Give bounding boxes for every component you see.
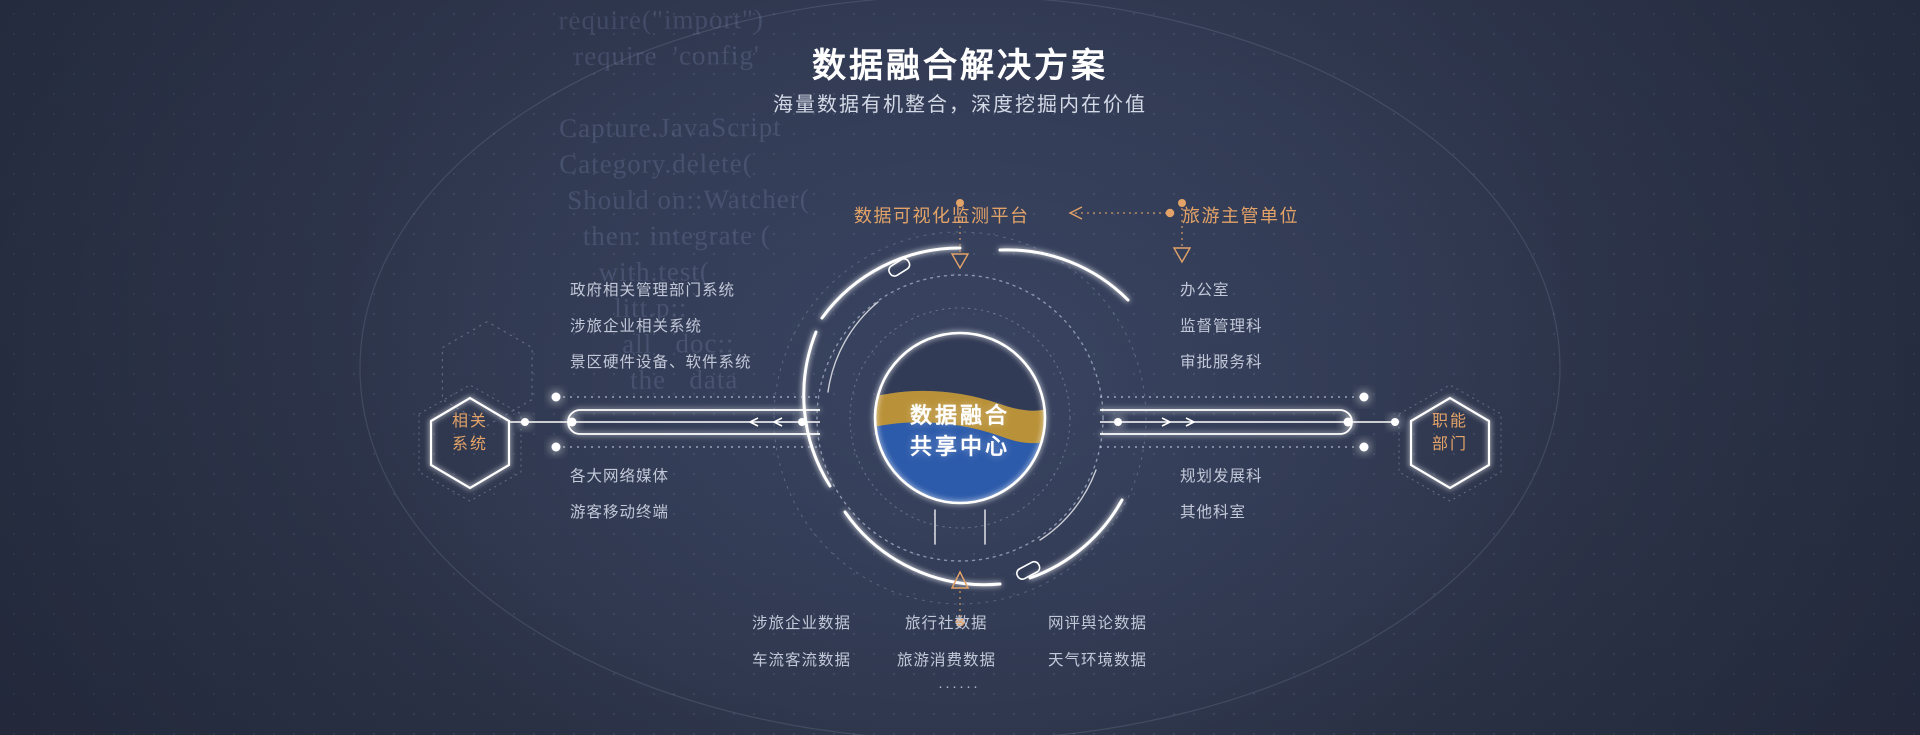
label-tourism-authority[interactable]: 旅游主管单位: [1182, 202, 1299, 228]
label-left-lower-1: 游客移动终端: [570, 500, 669, 522]
label-right-lower-0: 规划发展科: [1180, 464, 1263, 486]
hexagon-left-label: 相关 系统: [420, 410, 520, 456]
label-left-upper-2: 景区硬件设备、软件系统: [570, 350, 752, 372]
label-bottom-r0-c0: 涉旅企业数据: [752, 611, 851, 633]
connector-left-group: [509, 393, 820, 452]
label-visualization-platform[interactable]: 数据可视化监测平台: [854, 202, 1030, 228]
label-left-upper-0: 政府相关管理部门系统: [570, 278, 735, 300]
label-bottom-r0-c2: 网评舆论数据: [1048, 611, 1147, 633]
hexagon-right-label: 职能 部门: [1400, 410, 1500, 456]
label-bottom-r1-c0: 车流客流数据: [752, 648, 851, 670]
connector-top-platform-to-authority: [1070, 207, 1174, 219]
label-right-upper-0: 办公室: [1180, 278, 1230, 300]
label-left-upper-1: 涉旅企业相关系统: [570, 314, 702, 336]
hexagon-right-line2: 部门: [1400, 433, 1500, 456]
center-label-line2: 共享中心: [860, 431, 1060, 462]
label-bottom-r1-c1: 旅游消费数据: [897, 648, 996, 670]
label-bottom-r1-c2: 天气环境数据: [1048, 648, 1147, 670]
label-right-upper-1: 监督管理科: [1180, 314, 1263, 336]
hexagon-left-line1: 相关: [420, 410, 520, 433]
label-bottom-ellipsis: ······: [938, 678, 980, 695]
label-right-upper-2: 审批服务科: [1180, 350, 1263, 372]
center-label: 数据融合 共享中心: [860, 400, 1060, 462]
center-label-line1: 数据融合: [860, 400, 1060, 431]
hexagon-right-line1: 职能: [1400, 410, 1500, 433]
hexagon-left-line2: 系统: [420, 433, 520, 456]
label-bottom-r0-c1: 旅行社数据: [905, 611, 988, 633]
label-left-lower-0: 各大网络媒体: [570, 464, 669, 486]
label-right-lower-1: 其他科室: [1180, 500, 1246, 522]
